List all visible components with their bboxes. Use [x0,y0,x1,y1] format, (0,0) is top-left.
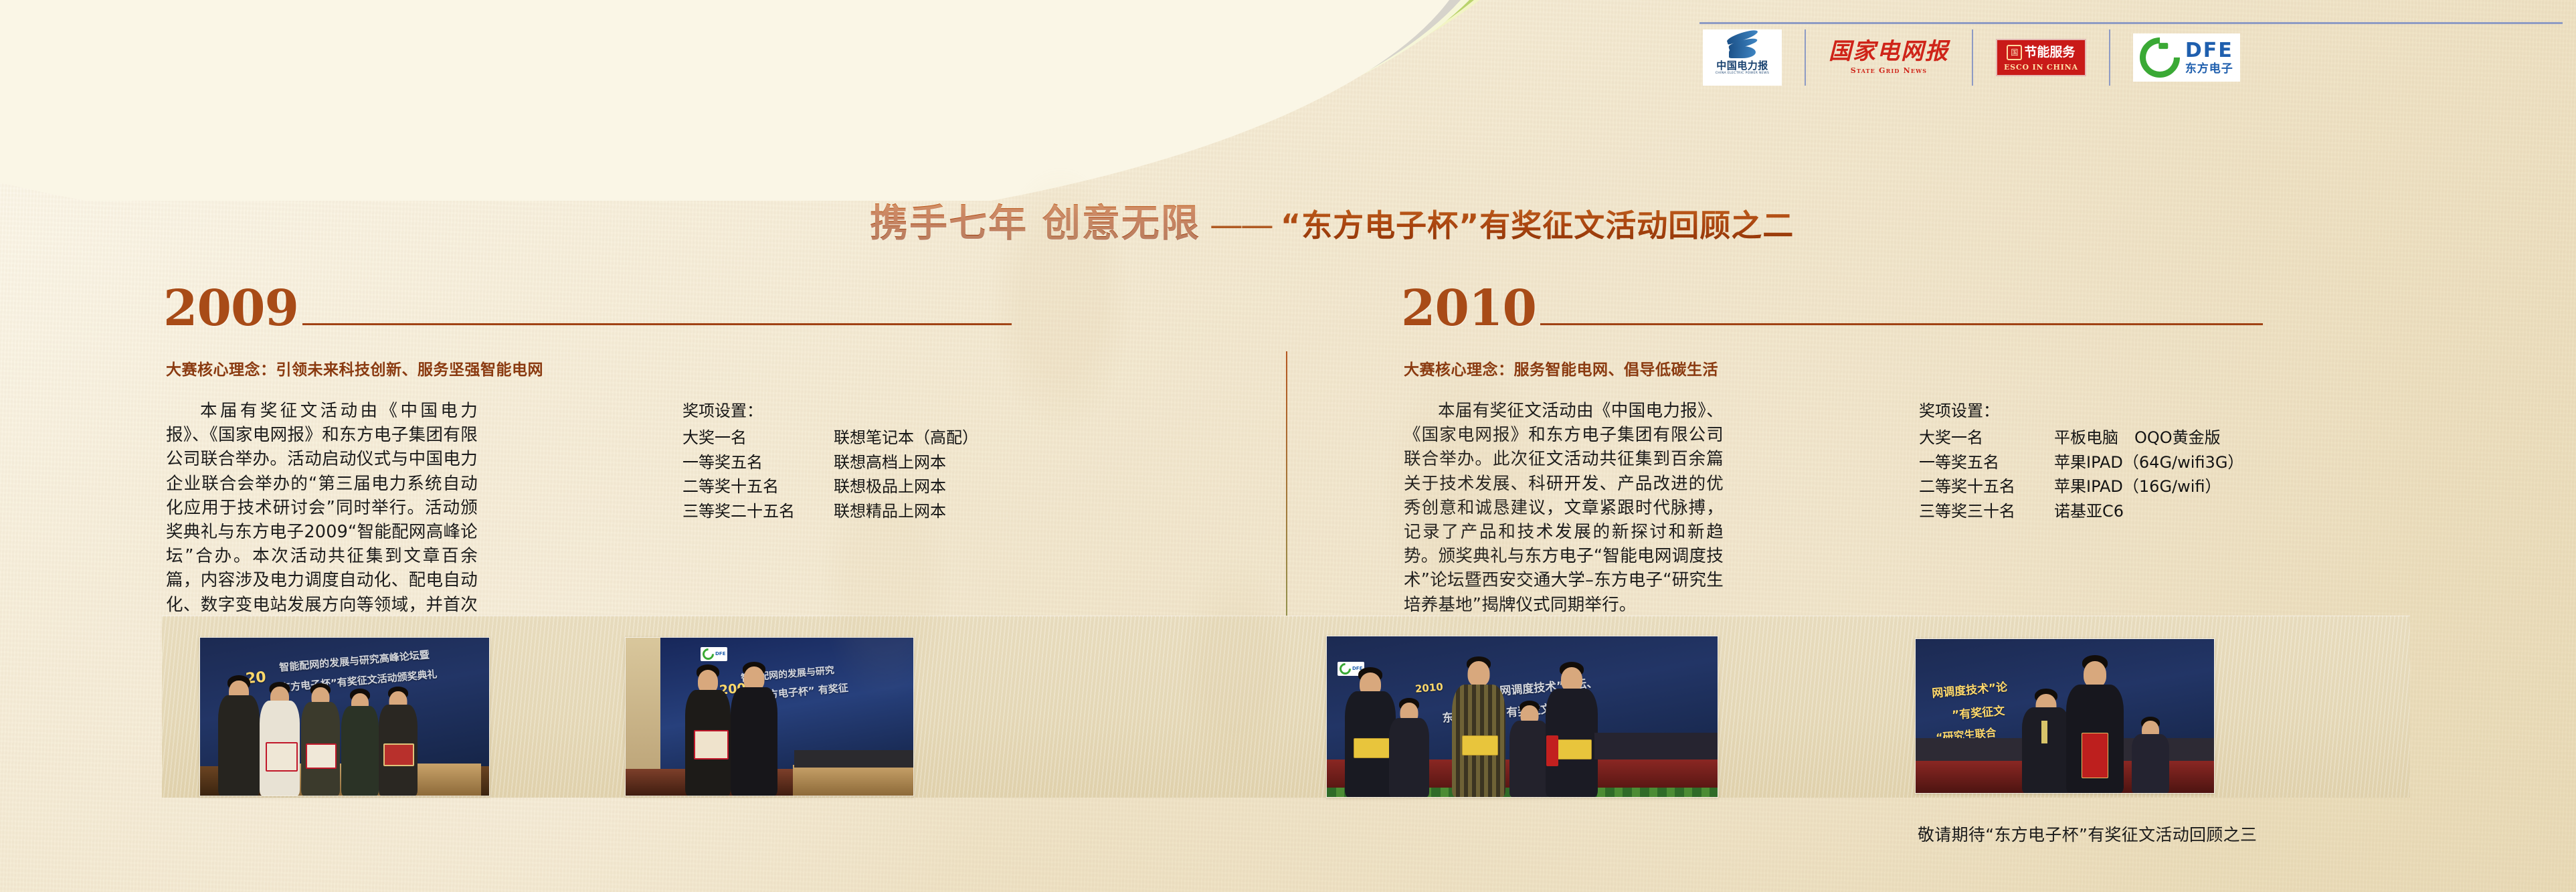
photo-2010-certificate: 网调度技术”论 ”有奖征文 “研究生联合 [1915,638,2215,794]
sgn-label-en: State Grid News [1851,66,1928,75]
award-prize: 苹果IPAD（64G/wifi3G） [2054,450,2243,474]
concept-text-2009: 引领未来科技创新、服务坚强智能电网 [276,361,544,379]
award-prize: 联想高档上网本 [834,450,978,474]
poster-title: 携手七年 创意无限 —— “东方电子杯”有奖征文活动回顾之二 [870,193,1794,248]
awards-block-2009: 奖项设置： 大奖一名 联想笔记本（高配） 一等奖五名 联想高档上网本 二等奖十五… [682,399,978,523]
awards-row: 二等奖十五名 苹果IPAD（16G/wifi） [1919,474,2243,499]
year-heading-2009: 2009 [163,286,1012,331]
awards-table-2009: 大奖一名 联想笔记本（高配） 一等奖五名 联想高档上网本 二等奖十五名 联想极品… [682,426,978,523]
awards-title-2010: 奖项设置： [1919,399,2243,423]
cepn-swoosh-icon [1725,31,1760,60]
title-dash: —— [1210,205,1271,244]
green-swoosh-decoration [0,0,1807,201]
dfe-circle-icon [2131,29,2188,86]
cepn-label-cn: 中国电力报 [1716,61,1768,71]
award-rank: 大奖一名 [682,426,834,450]
award-rank: 二等奖十五名 [1919,474,2054,499]
concept-line-2009: 大赛核心理念：引领未来科技创新、服务坚强智能电网 [166,357,543,379]
sponsor-logo-strip: 中国电力报 CHINA ELECTRIC POWER NEWS 国家电网报 St… [1703,29,2240,86]
esco-label-en: ESCO IN CHINA [2004,63,2078,72]
photo-person [1509,685,1550,797]
title-main: 携手七年 创意无限 [870,193,1200,248]
title-subtitle: “东方电子杯”有奖征文活动回顾之二 [1281,201,1794,246]
logo-strip-rule [1699,22,2563,24]
photo-seated-panel [1594,733,1718,760]
concept-label-2010: 大赛核心理念： [1404,361,1514,379]
awards-row: 大奖一名 联想笔记本（高配） [682,426,978,450]
award-prize: 联想笔记本（高配） [834,426,978,450]
photo-person [2131,705,2170,793]
year-rule-2009 [302,323,1012,325]
photo-person [259,678,300,796]
photo-person [300,679,341,796]
photo-person [378,682,418,796]
photo-person [1545,660,1598,797]
award-prize: 联想极品上网本 [834,474,978,499]
photo-person [341,683,379,796]
year-heading-2010: 2010 [1401,286,2263,331]
awards-block-2010: 奖项设置： 大奖一名 平板电脑 OQO黄金版 一等奖五名 苹果IPAD（64G/… [1919,399,2243,523]
body-paragraph-2009: 本届有奖征文活动由《中国电力报》、《国家电网报》和东方电子集团有限公司联合举办。… [166,399,478,641]
photo-seated-panel [794,750,913,768]
award-prize: 诺基亚C6 [2054,499,2243,523]
award-rank: 大奖一名 [1919,426,2054,450]
cepn-label-en: CHINA ELECTRIC POWER NEWS [1716,72,1769,76]
photo-person [1451,656,1506,797]
photo-person [217,674,260,796]
award-rank: 三等奖三十名 [1919,499,2054,523]
photo-2009-group-award: 智能配网的发展与研究高峰论坛暨 20 “东方电子杯”有奖征文活动颁奖典礼 [199,637,490,796]
footer-note: 敬请期待“东方电子杯”有奖征文活动回顾之三 [1918,822,2257,846]
dfe-label-abbr: DFE [2185,41,2233,61]
section-divider [1286,351,1287,659]
year-number-2010: 2010 [1401,286,1536,331]
dfe-label-cn: 东方电子 [2185,64,2233,75]
awards-row: 二等奖十五名 联想极品上网本 [682,474,978,499]
sgn-label-cn: 国家电网报 [1829,40,1949,63]
awards-table-2010: 大奖一名 平板电脑 OQO黄金版 一等奖五名 苹果IPAD（64G/wifi3G… [1919,426,2243,523]
logo-state-grid-news: 国家电网报 State Grid News [1829,29,1949,86]
year-number-2009: 2009 [163,286,298,331]
logo-divider-1 [1805,29,1806,86]
logo-divider-3 [2109,29,2110,86]
body-text-2010: 本届有奖征文活动由《中国电力报》、《国家电网报》和东方电子集团有限公司联合举办。… [1404,399,1724,617]
award-prize: 平板电脑 OQO黄金版 [2054,426,2243,450]
award-prize: 苹果IPAD（16G/wifi） [2054,474,2243,499]
photo-person [2021,679,2071,793]
award-rank: 一等奖五名 [1919,450,2054,474]
award-prize: 联想精品上网本 [834,499,978,523]
body-text-2009: 本届有奖征文活动由《中国电力报》、《国家电网报》和东方电子集团有限公司联合举办。… [166,399,478,641]
photo-person [1388,683,1430,797]
awards-row: 一等奖五名 联想高档上网本 [682,450,978,474]
award-rank: 三等奖二十五名 [682,499,834,523]
logo-dfe: DFE 东方电子 [2133,29,2240,86]
concept-label-2009: 大赛核心理念： [166,361,276,379]
esco-seal-icon: 国 [2007,45,2022,60]
awards-title-2009: 奖项设置： [682,399,978,423]
award-rank: 二等奖十五名 [682,474,834,499]
concept-text-2010: 服务智能电网、倡导低碳生活 [1514,361,1719,379]
esco-label-cn: 节能服务 [2024,46,2075,59]
year-rule-2010 [1540,323,2263,325]
photo-person [730,662,778,796]
award-rank: 一等奖五名 [682,450,834,474]
photo-2009-handover: DFE 智能配网的发展与研究 200 “东方电子杯” 有奖征 [625,637,914,796]
logo-esco-in-china: 国 节能服务 ESCO IN CHINA [1996,29,2086,86]
logo-divider-2 [1972,29,1973,86]
photo-necktie [2041,721,2047,743]
concept-line-2010: 大赛核心理念：服务智能电网、倡导低碳生活 [1404,357,1718,379]
body-paragraph-2010: 本届有奖征文活动由《中国电力报》、《国家电网报》和东方电子集团有限公司联合举办。… [1404,399,1724,617]
awards-row: 一等奖五名 苹果IPAD（64G/wifi3G） [1919,450,2243,474]
photo-2010-group-award: DFE 2010 “智能电网调度技术”论坛、 东方电子杯”有奖征文颁奖典礼 [1326,636,1718,798]
awards-row: 大奖一名 平板电脑 OQO黄金版 [1919,426,2243,450]
awards-row: 三等奖三十名 诺基亚C6 [1919,499,2243,523]
poster-canvas: 中国电力报 CHINA ELECTRIC POWER NEWS 国家电网报 St… [0,0,2576,892]
photo-person [2065,655,2124,793]
awards-row: 三等奖二十五名 联想精品上网本 [682,499,978,523]
logo-china-electric-power-news: 中国电力报 CHINA ELECTRIC POWER NEWS [1703,29,1782,86]
dfe-badge-icon: DFE [701,647,727,661]
photo-person [684,664,731,796]
photo-band: 智能配网的发展与研究高峰论坛暨 20 “东方电子杯”有奖征文活动颁奖典礼 [162,616,2410,798]
